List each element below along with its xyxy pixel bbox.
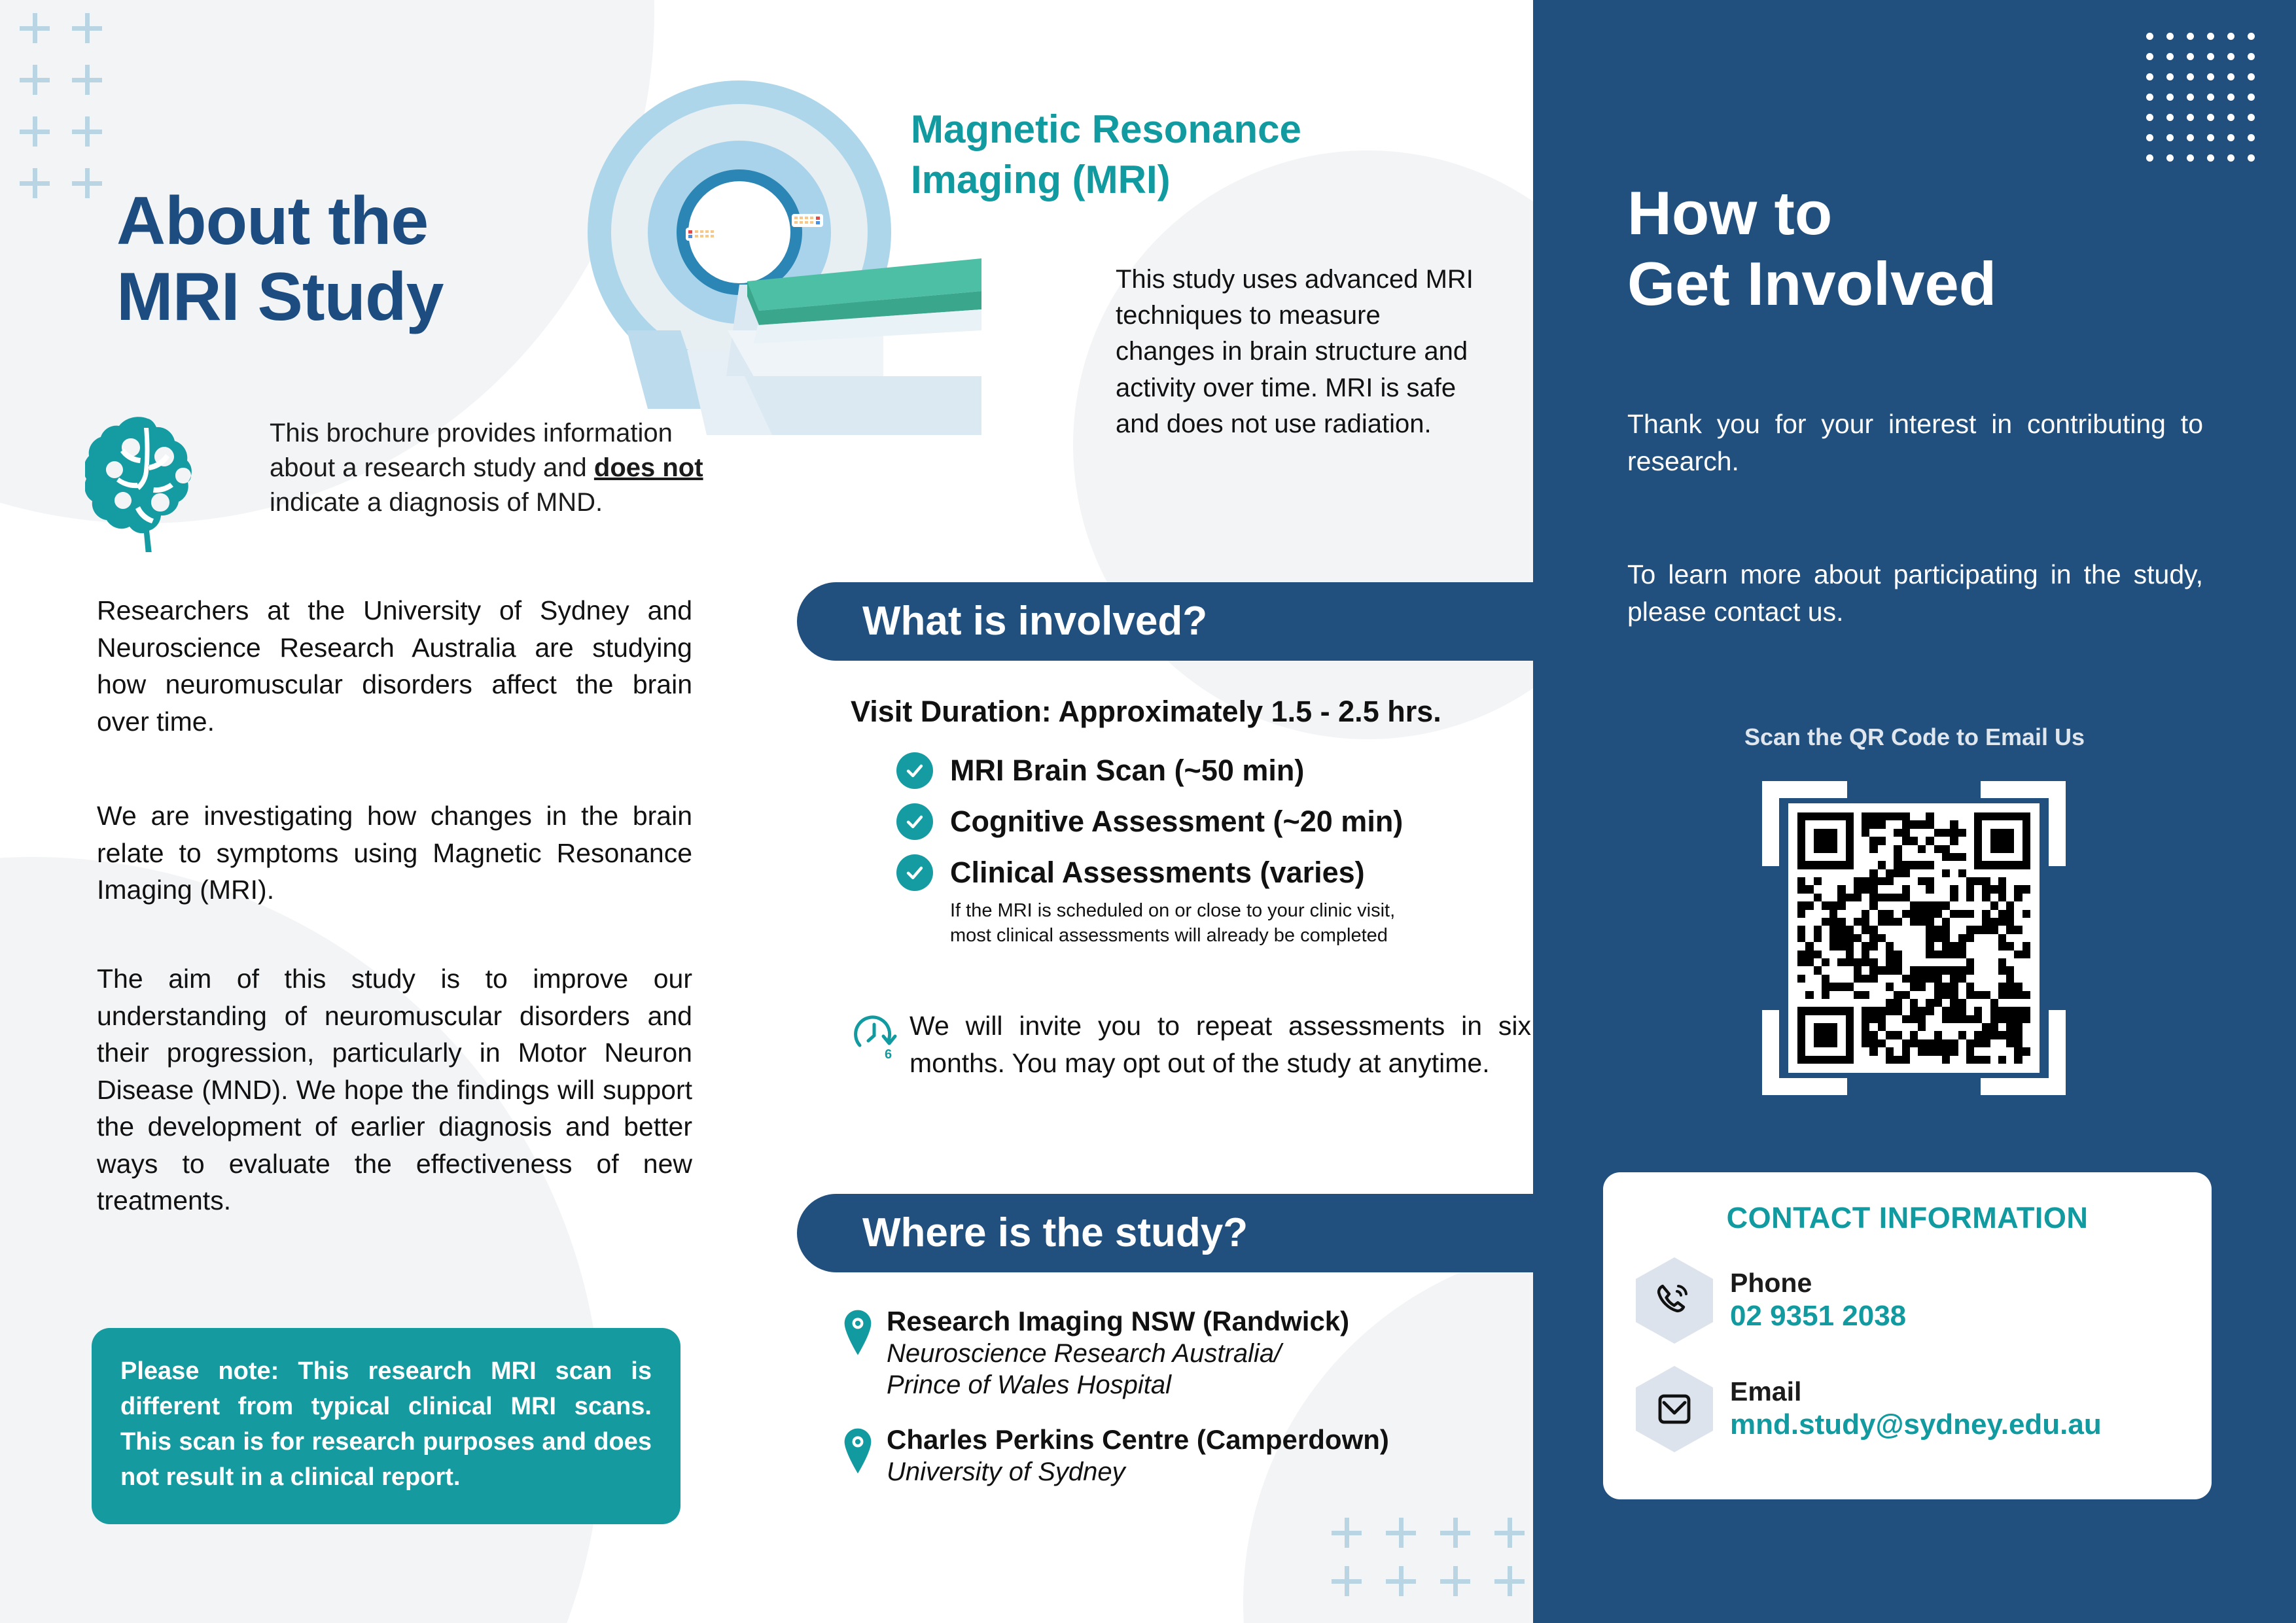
qr-module [1886, 983, 1894, 990]
qr-module [1837, 1015, 1845, 1023]
qr-module [2014, 1039, 2022, 1047]
qr-module [1974, 1047, 1982, 1055]
qr-module [1822, 837, 1829, 845]
qr-module [1878, 975, 1886, 983]
qr-module [1805, 958, 1813, 966]
get-involved-paragraph-1: Thank you for your interest in contribut… [1627, 406, 2203, 480]
qr-module [1966, 901, 1974, 909]
qr-module [1942, 1039, 1950, 1047]
qr-module [1974, 999, 1982, 1007]
qr-module [1902, 877, 1910, 885]
qr-module [1950, 845, 1958, 853]
qr-module [1869, 1039, 1877, 1047]
qr-module [1990, 853, 1998, 861]
qr-module [1902, 1047, 1910, 1055]
qr-module [1902, 812, 1910, 820]
qr-module [1846, 966, 1854, 974]
phone-value[interactable]: 02 9351 2038 [1730, 1299, 1906, 1334]
qr-module [1998, 1015, 2006, 1023]
qr-module [1878, 926, 1886, 934]
qr-module [1862, 958, 1869, 966]
qr-module [1878, 910, 1886, 918]
qr-module [1854, 1023, 1862, 1031]
qr-module [2006, 1015, 2014, 1023]
qr-module [2014, 975, 2022, 983]
qr-module [1805, 926, 1813, 934]
qr-module [1822, 975, 1829, 983]
qr-module [2014, 991, 2022, 999]
qr-module [2014, 1056, 2022, 1064]
qr-module [1829, 918, 1837, 926]
qr-module [1974, 910, 1982, 918]
qr-module [1846, 1056, 1854, 1064]
qr-module [1837, 820, 1845, 828]
qr-module [1998, 975, 2006, 983]
qr-module [1998, 1031, 2006, 1039]
qr-module [1934, 837, 1942, 845]
qr-module [1814, 983, 1822, 990]
qr-module [1990, 983, 1998, 990]
qr-module [1894, 845, 1901, 853]
qr-module [1814, 958, 1822, 966]
qr-module [1886, 951, 1894, 958]
qr-module [1837, 918, 1845, 926]
qr-module [2022, 1031, 2030, 1039]
qr-module [1805, 885, 1813, 893]
qr-module [2022, 1047, 2030, 1055]
qr-module [2014, 966, 2022, 974]
qr-module [1958, 894, 1966, 901]
qr-module [1869, 853, 1877, 861]
qr-module [1934, 885, 1942, 893]
qr-module [1822, 853, 1829, 861]
qr-module [1822, 1007, 1829, 1015]
qr-module [1878, 1007, 1886, 1015]
qr-module [1862, 861, 1869, 869]
qr-module [1846, 901, 1854, 909]
qr-module [1910, 958, 1918, 966]
qr-module [1814, 1056, 1822, 1064]
qr-module [1837, 829, 1845, 837]
qr-module [2022, 1056, 2030, 1064]
qr-module [1814, 991, 1822, 999]
qr-module [1974, 983, 1982, 990]
qr-module [1934, 1031, 1942, 1039]
qr-module [1950, 885, 1958, 893]
qr-module [1990, 926, 1998, 934]
qr-module [1894, 837, 1901, 845]
qr-module [1942, 869, 1950, 877]
qr-module [1797, 958, 1805, 966]
qr-module [1982, 1007, 1990, 1015]
qr-module [1814, 951, 1822, 958]
qr-module [1878, 1039, 1886, 1047]
qr-module [2006, 958, 2014, 966]
qr-module [2006, 1007, 2014, 1015]
qr-module [1998, 918, 2006, 926]
qr-module [1846, 894, 1854, 901]
qr-module [1974, 1056, 1982, 1064]
qr-module [1837, 983, 1845, 990]
qr-module [1966, 926, 1974, 934]
qr-module [1846, 1015, 1854, 1023]
qr-module [1797, 820, 1805, 828]
qr-module [1894, 983, 1901, 990]
qr-module [2014, 926, 2022, 934]
qr-module [2006, 926, 2014, 934]
qr-module [1958, 853, 1966, 861]
qr-module [1869, 966, 1877, 974]
qr-module [1854, 1039, 1862, 1047]
qr-module [1950, 869, 1958, 877]
checklist-label: Cognitive Assessment (~20 min) [950, 806, 1403, 837]
qr-module [1998, 869, 2006, 877]
qr-module [1846, 1023, 1854, 1031]
qr-module [1822, 1015, 1829, 1023]
qr-module [1926, 1007, 1934, 1015]
qr-module [1958, 812, 1966, 820]
qr-module [1982, 820, 1990, 828]
qr-module [1894, 877, 1901, 885]
qr-module [1950, 1056, 1958, 1064]
qr-module [1814, 837, 1822, 845]
qr-module [1862, 885, 1869, 893]
qr-module [1926, 983, 1934, 990]
qr-module [1926, 812, 1934, 820]
qr-module [1814, 1031, 1822, 1039]
qr-module [1854, 894, 1862, 901]
qr-module [1966, 1056, 1974, 1064]
email-value[interactable]: mnd.study@sydney.edu.au [1730, 1407, 2102, 1442]
qr-module [1934, 1039, 1942, 1047]
qr-module [1902, 991, 1910, 999]
qr-module [1950, 812, 1958, 820]
qr-module [2014, 910, 2022, 918]
qr-module [1822, 901, 1829, 909]
qr-module [2006, 829, 2014, 837]
qr-module [2014, 1023, 2022, 1031]
qr-module [2014, 885, 2022, 893]
qr-module [1990, 999, 1998, 1007]
qr-module [1805, 1047, 1813, 1055]
qr-module [1950, 910, 1958, 918]
qr-module [2022, 983, 2030, 990]
qr-module [2014, 812, 2022, 820]
qr-code-image[interactable] [1788, 803, 2040, 1073]
list-item: Clinical Assessments (varies) [896, 854, 1538, 891]
qr-module [1878, 942, 1886, 950]
qr-module [1982, 942, 1990, 950]
qr-module [1950, 942, 1958, 950]
qr-module [1894, 918, 1901, 926]
qr-module [1934, 845, 1942, 853]
qr-module [1814, 853, 1822, 861]
qr-module [1805, 966, 1813, 974]
contact-card-title: CONTACT INFORMATION [1636, 1201, 2179, 1235]
qr-module [1918, 1015, 1926, 1023]
qr-module [1990, 975, 1998, 983]
qr-module [1894, 942, 1901, 950]
qr-module [1942, 877, 1950, 885]
qr-module [1797, 894, 1805, 901]
qr-module [1902, 910, 1910, 918]
qr-module [1822, 820, 1829, 828]
qr-module [1926, 1047, 1934, 1055]
qr-module [2022, 1023, 2030, 1031]
qr-module [2022, 918, 2030, 926]
qr-module [1950, 991, 1958, 999]
qr-module [2006, 942, 2014, 950]
qr-module [1990, 1031, 1998, 1039]
qr-module [1869, 837, 1877, 845]
qr-module [1822, 926, 1829, 934]
qr-module [1910, 901, 1918, 909]
qr-module [1878, 1031, 1886, 1039]
qr-module [1982, 991, 1990, 999]
qr-module [1862, 918, 1869, 926]
phone-icon [1636, 1257, 1713, 1344]
qr-module [1966, 845, 1974, 853]
qr-module [1797, 966, 1805, 974]
qr-module [1814, 1039, 1822, 1047]
qr-module [1926, 991, 1934, 999]
qr-module [1958, 991, 1966, 999]
qr-module [1918, 934, 1926, 942]
qr-module [1869, 934, 1877, 942]
qr-module [1814, 885, 1822, 893]
qr-module [1837, 926, 1845, 934]
qr-module [1862, 853, 1869, 861]
qr-module [1918, 820, 1926, 828]
qr-module [1878, 901, 1886, 909]
qr-module [1958, 966, 1966, 974]
qr-module [1918, 1039, 1926, 1047]
qr-module [1998, 934, 2006, 942]
qr-module [1805, 812, 1813, 820]
qr-module [1942, 958, 1950, 966]
qr-module [1894, 853, 1901, 861]
qr-module [1934, 926, 1942, 934]
qr-module [1805, 845, 1813, 853]
qr-module [1886, 926, 1894, 934]
qr-module [1926, 926, 1934, 934]
qr-module [1990, 966, 1998, 974]
qr-module [1805, 942, 1813, 950]
qr-module [1878, 1023, 1886, 1031]
qr-module [1805, 894, 1813, 901]
qr-module [1918, 942, 1926, 950]
qr-module [1846, 942, 1854, 950]
qr-module [2022, 910, 2030, 918]
qr-module [1822, 894, 1829, 901]
qr-module [1990, 991, 1998, 999]
qr-module [1886, 820, 1894, 828]
qr-module [1805, 1007, 1813, 1015]
qr-module [2006, 869, 2014, 877]
qr-module [1902, 861, 1910, 869]
qr-module [1886, 942, 1894, 950]
qr-module [1910, 999, 1918, 1007]
qr-module [1869, 812, 1877, 820]
qr-module [1998, 877, 2006, 885]
qr-module [1837, 1039, 1845, 1047]
qr-code[interactable] [1744, 775, 2084, 1102]
qr-module [1805, 820, 1813, 828]
qr-module [1966, 1047, 1974, 1055]
qr-module [1854, 999, 1862, 1007]
qr-module [1846, 1039, 1854, 1047]
qr-module [1862, 1056, 1869, 1064]
qr-module [1950, 853, 1958, 861]
qr-module [1814, 1023, 1822, 1031]
qr-module [1990, 829, 1998, 837]
qr-module [1966, 1023, 1974, 1031]
qr-module [1846, 991, 1854, 999]
qr-module [1829, 951, 1837, 958]
qr-module [2014, 829, 2022, 837]
qr-module [1966, 983, 1974, 990]
qr-module [1805, 918, 1813, 926]
qr-module [1958, 999, 1966, 1007]
qr-module [1862, 820, 1869, 828]
qr-module [1829, 1015, 1837, 1023]
qr-module [2022, 812, 2030, 820]
qr-module [1869, 829, 1877, 837]
qr-module [1990, 958, 1998, 966]
qr-module [1942, 999, 1950, 1007]
qr-module [1926, 885, 1934, 893]
qr-module [1797, 869, 1805, 877]
qr-module [1990, 1056, 1998, 1064]
qr-module [1974, 820, 1982, 828]
qr-module [1990, 812, 1998, 820]
contact-row-email[interactable]: Email mnd.study@sydney.edu.au [1636, 1366, 2179, 1452]
list-item: MRI Brain Scan (~50 min) [896, 752, 1538, 789]
qr-module [1814, 926, 1822, 934]
qr-module [1878, 918, 1886, 926]
qr-module [1822, 1039, 1829, 1047]
qr-module [1837, 951, 1845, 958]
brochure-page: About the MRI Study This brochure provid… [0, 0, 2296, 1623]
qr-module [1829, 1023, 1837, 1031]
map-pin-icon [841, 1309, 875, 1359]
qr-module [1869, 1056, 1877, 1064]
qr-module [1869, 820, 1877, 828]
mri-section-title: Magnetic Resonance Imaging (MRI) [911, 105, 1428, 205]
qr-module [1950, 951, 1958, 958]
qr-module [1805, 861, 1813, 869]
location-name: Charles Perkins Centre (Camperdown) [887, 1424, 1389, 1455]
qr-module [1822, 1047, 1829, 1055]
qr-module [1814, 812, 1822, 820]
qr-module [1998, 942, 2006, 950]
qr-module [1926, 901, 1934, 909]
involved-checklist: MRI Brain Scan (~50 min) Cognitive Asses… [896, 752, 1538, 961]
qr-module [1926, 1039, 1934, 1047]
qr-module [1950, 861, 1958, 869]
qr-module [1805, 975, 1813, 983]
qr-module [1934, 966, 1942, 974]
qr-module [1998, 983, 2006, 990]
qr-module [1974, 877, 1982, 885]
qr-module [1797, 1031, 1805, 1039]
qr-module [1918, 861, 1926, 869]
qr-module [1805, 983, 1813, 990]
qr-module [1902, 966, 1910, 974]
qr-module [1902, 829, 1910, 837]
qr-module [1829, 910, 1837, 918]
qr-module [1974, 1015, 1982, 1023]
qr-module [1910, 975, 1918, 983]
qr-bracket-bl-v [1762, 1010, 1779, 1095]
qr-module [2014, 983, 2022, 990]
qr-module [1998, 910, 2006, 918]
qr-module [1829, 983, 1837, 990]
qr-module [1837, 910, 1845, 918]
qr-module [1822, 829, 1829, 837]
qr-module [1837, 942, 1845, 950]
qr-module [1926, 999, 1934, 1007]
contact-row-phone[interactable]: Phone 02 9351 2038 [1636, 1257, 2179, 1344]
qr-module [2022, 991, 2030, 999]
qr-module [1942, 991, 1950, 999]
qr-module [1805, 837, 1813, 845]
qr-module [1837, 999, 1845, 1007]
qr-module [1958, 1047, 1966, 1055]
qr-module [1829, 812, 1837, 820]
qr-module [1854, 820, 1862, 828]
qr-module [1958, 1015, 1966, 1023]
qr-module [1998, 966, 2006, 974]
qr-module [1918, 812, 1926, 820]
qr-module [1918, 1031, 1926, 1039]
qr-module [1902, 869, 1910, 877]
qr-module [1894, 1056, 1901, 1064]
qr-module [2022, 885, 2030, 893]
qr-module [1934, 934, 1942, 942]
qr-module [1934, 869, 1942, 877]
qr-module [1998, 837, 2006, 845]
qr-module [1982, 966, 1990, 974]
qr-module [2006, 991, 2014, 999]
qr-module [1846, 975, 1854, 983]
qr-module [1998, 820, 2006, 828]
qr-module [1918, 1007, 1926, 1015]
qr-module [1950, 1007, 1958, 1015]
qr-module [1886, 999, 1894, 1007]
qr-module [2006, 934, 2014, 942]
check-icon [896, 752, 933, 789]
qr-module [1862, 845, 1869, 853]
qr-module [1958, 877, 1966, 885]
qr-module [1837, 958, 1845, 966]
qr-module [1862, 1023, 1869, 1031]
qr-module [1982, 951, 1990, 958]
qr-module [1862, 1047, 1869, 1055]
qr-module [1829, 837, 1837, 845]
qr-module [1837, 1007, 1845, 1015]
qr-module [1886, 1031, 1894, 1039]
qr-module [2022, 853, 2030, 861]
qr-module [1958, 983, 1966, 990]
qr-module [1982, 999, 1990, 1007]
qr-module [1910, 853, 1918, 861]
qr-module [1814, 1047, 1822, 1055]
checklist-label: Clinical Assessments (varies) [950, 857, 1365, 888]
qr-module [1942, 942, 1950, 950]
qr-module [1894, 999, 1901, 1007]
qr-module [1894, 1039, 1901, 1047]
